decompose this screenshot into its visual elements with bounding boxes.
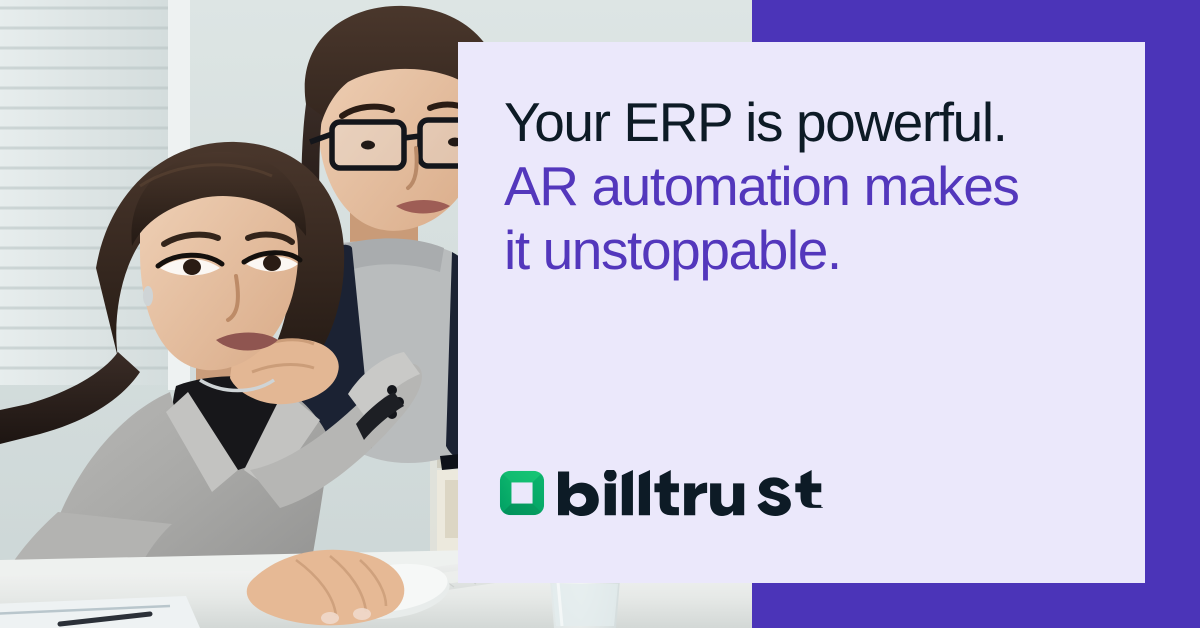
- billtrust-diamond-square-mark-icon: [499, 470, 545, 516]
- headline-line-1: Your ERP is powerful.: [504, 90, 1129, 154]
- billtrust-wordmark-suffix: [756, 470, 824, 516]
- earring: [143, 286, 153, 306]
- headline-line-3: it unstoppable.: [504, 218, 1129, 282]
- headline: Your ERP is powerful. AR automation make…: [504, 90, 1129, 282]
- headline-line-2: AR automation makes: [504, 154, 1129, 218]
- billtrust-logo: [499, 470, 824, 516]
- marketing-banner: Your ERP is powerful. AR automation make…: [0, 0, 1200, 628]
- billtrust-wordmark: [558, 470, 745, 516]
- content-card: Your ERP is powerful. AR automation make…: [458, 42, 1145, 583]
